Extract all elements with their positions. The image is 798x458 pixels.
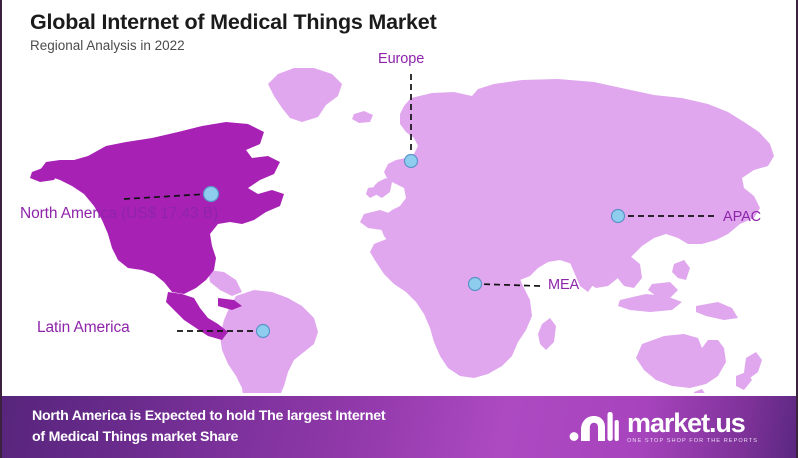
region-label-mea: MEA [548, 277, 579, 293]
bar-chart-logo-icon [567, 408, 619, 446]
brand-name: market.us [627, 410, 758, 437]
region-ireland [366, 187, 376, 198]
banner-headline: North America is Expected to hold The la… [32, 406, 385, 449]
region-madagascar [538, 318, 556, 350]
header: Global Internet of Medical Things Market… [30, 10, 437, 53]
bottom-banner: North America is Expected to hold The la… [2, 396, 796, 458]
region-label-europe: Europe [378, 51, 424, 67]
region-new-guinea [696, 302, 738, 320]
region-label-north-america-value: (US$ 17.43 B) [121, 205, 218, 222]
region-label-north-america-name: North America [20, 205, 117, 222]
region-label-apac: APAC [723, 209, 761, 225]
region-central-america [208, 270, 242, 296]
region-indonesia [618, 294, 682, 312]
region-greenland [268, 68, 342, 122]
region-british-isles [374, 178, 392, 198]
region-iceland [352, 111, 373, 123]
page-title: Global Internet of Medical Things Market [30, 10, 437, 35]
brand-logo[interactable]: market.us ONE STOP SHOP FOR THE REPORTS [567, 408, 758, 446]
map-base-regions [208, 68, 774, 393]
region-label-north-america: North America (US$ 17.43 B) [20, 205, 180, 223]
brand-wordmark: market.us ONE STOP SHOP FOR THE REPORTS [627, 410, 758, 445]
region-label-latin-america: Latin America [37, 319, 130, 337]
region-tasmania [694, 389, 706, 393]
banner-headline-line2: of Medical Things market Share [32, 427, 385, 448]
brand-tagline: ONE STOP SHOP FOR THE REPORTS [627, 439, 758, 445]
region-southeast-asia [614, 256, 642, 288]
region-philippines [672, 260, 690, 280]
banner-headline-line1: North America is Expected to hold The la… [32, 408, 385, 424]
infographic-root: Global Internet of Medical Things Market… [0, 0, 798, 458]
region-australia [636, 334, 726, 388]
